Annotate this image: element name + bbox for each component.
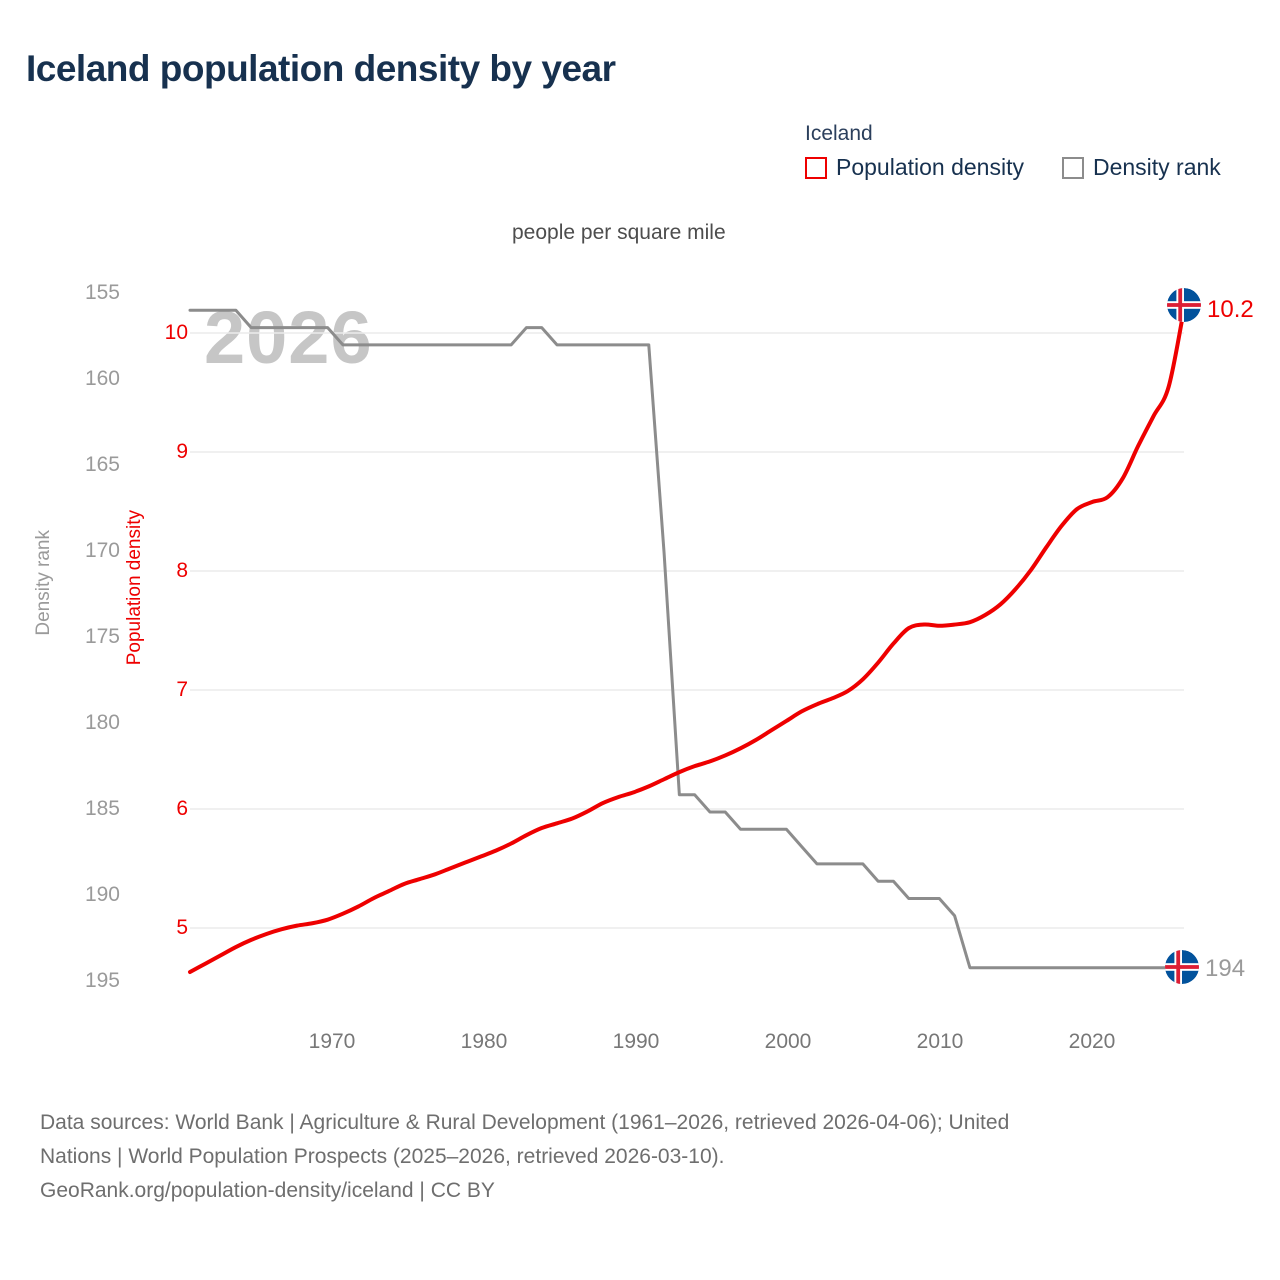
end-label-density: 10.2 [1207, 296, 1254, 324]
footer-line-3: GeoRank.org/population-density/iceland |… [40, 1174, 1250, 1208]
plot-area [0, 0, 1280, 1280]
iceland-flag-icon-density [1167, 288, 1201, 322]
footer-line-2: Nations | World Population Prospects (20… [40, 1140, 1250, 1174]
footer-line-1: Data sources: World Bank | Agriculture &… [40, 1106, 1250, 1140]
end-label-rank: 194 [1205, 955, 1245, 983]
chart-container: Iceland population density by year Icela… [0, 0, 1280, 1280]
gridlines [190, 333, 1184, 928]
series-line-density-rank [190, 310, 1184, 967]
iceland-flag-icon-rank [1165, 950, 1199, 984]
series-line-population-density [190, 309, 1184, 972]
footer-credits: Data sources: World Bank | Agriculture &… [40, 1106, 1250, 1208]
